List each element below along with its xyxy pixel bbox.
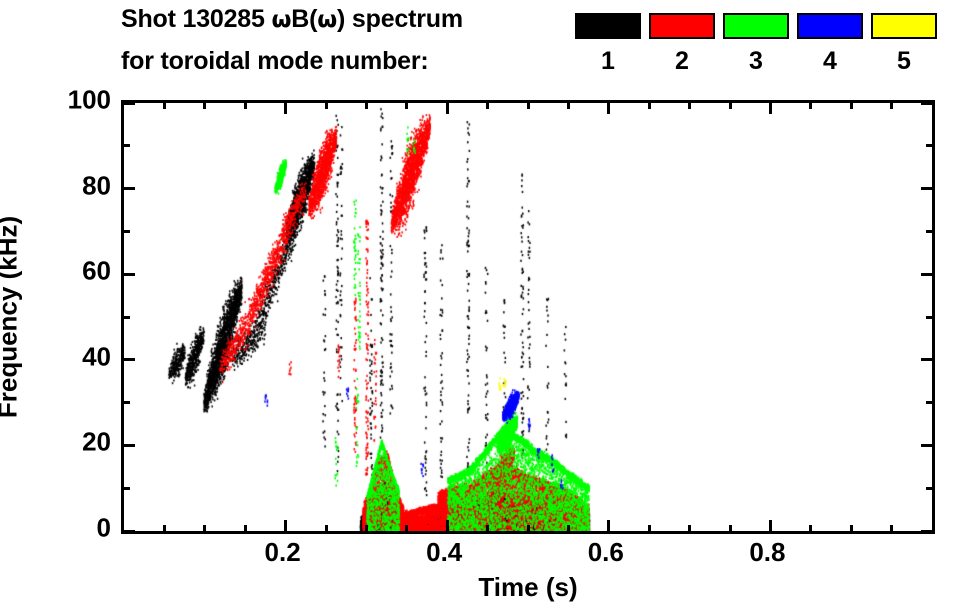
x-axis-title: Time (s) xyxy=(478,572,577,603)
x-tick-label: 0.6 xyxy=(588,537,624,568)
legend-label-mode-3: 3 xyxy=(723,48,789,74)
legend: 12345 xyxy=(575,0,963,96)
x-tick-minor xyxy=(809,525,812,534)
x-tick-minor-top xyxy=(365,100,368,109)
x-tick-minor-top xyxy=(203,100,206,109)
y-tick-major xyxy=(121,102,135,105)
x-tick-major xyxy=(769,520,772,534)
x-tick-minor-top xyxy=(244,100,247,109)
x-tick-minor xyxy=(648,525,651,534)
y-tick-minor-right xyxy=(926,487,935,490)
x-tick-minor xyxy=(850,525,853,534)
x-tick-minor xyxy=(405,525,408,534)
title-mid: B( xyxy=(291,5,317,33)
legend-label-mode-1: 1 xyxy=(575,48,641,74)
x-tick-minor-top xyxy=(729,100,732,109)
x-tick-major-top xyxy=(607,100,610,114)
y-tick-label: 80 xyxy=(82,170,111,201)
x-tick-minor xyxy=(486,525,489,534)
x-tick-minor-top xyxy=(567,100,570,109)
x-tick-minor-top xyxy=(850,100,853,109)
y-tick-label: 100 xyxy=(68,85,111,116)
y-tick-minor-right xyxy=(926,230,935,233)
x-tick-minor xyxy=(527,525,530,534)
y-tick-major-right xyxy=(921,444,935,447)
legend-swatch-mode-4 xyxy=(797,13,863,39)
legend-item-mode-5: 5 xyxy=(871,0,937,74)
legend-label-mode-4: 4 xyxy=(797,48,863,74)
y-tick-major-right xyxy=(921,530,935,533)
title-suffix: ) spectrum xyxy=(337,5,463,33)
y-tick-major xyxy=(121,358,135,361)
x-tick-major-top xyxy=(769,100,772,114)
y-tick-major-right xyxy=(921,273,935,276)
x-tick-minor-top xyxy=(527,100,530,109)
omega-symbol-2: ω xyxy=(317,7,337,33)
x-tick-minor xyxy=(325,525,328,534)
x-tick-minor xyxy=(365,525,368,534)
y-tick-minor xyxy=(121,230,130,233)
x-tick-minor xyxy=(163,525,166,534)
y-tick-major-right xyxy=(921,102,935,105)
y-tick-minor xyxy=(121,144,130,147)
y-tick-label: 20 xyxy=(82,427,111,458)
x-tick-minor-top xyxy=(688,100,691,109)
y-tick-minor-right xyxy=(926,401,935,404)
legend-item-mode-4: 4 xyxy=(797,0,863,74)
figure-title-line-1: Shot 130285 ωB(ω) spectrum xyxy=(121,5,463,34)
x-tick-minor xyxy=(890,525,893,534)
figure-header: Shot 130285 ωB(ω) spectrum for toroidal … xyxy=(0,0,963,96)
y-tick-major xyxy=(121,530,135,533)
x-tick-minor xyxy=(688,525,691,534)
legend-swatch-mode-1 xyxy=(575,13,641,39)
legend-item-mode-3: 3 xyxy=(723,0,789,74)
y-tick-major xyxy=(121,187,135,190)
x-tick-minor xyxy=(203,525,206,534)
legend-swatch-mode-5 xyxy=(871,13,937,39)
y-tick-label: 0 xyxy=(97,513,111,544)
spectrogram-data-layer xyxy=(124,103,932,531)
x-tick-minor-top xyxy=(809,100,812,109)
y-tick-minor-right xyxy=(926,316,935,319)
x-tick-major-top xyxy=(446,100,449,114)
omega-symbol-1: ω xyxy=(271,7,291,33)
x-tick-minor-top xyxy=(648,100,651,109)
x-tick-minor xyxy=(567,525,570,534)
figure-root: Shot 130285 ωB(ω) spectrum for toroidal … xyxy=(0,0,963,615)
legend-item-mode-1: 1 xyxy=(575,0,641,74)
y-tick-major xyxy=(121,273,135,276)
x-tick-minor-top xyxy=(163,100,166,109)
y-tick-label: 40 xyxy=(82,341,111,372)
x-tick-minor-top xyxy=(890,100,893,109)
y-tick-minor xyxy=(121,401,130,404)
y-tick-label: 60 xyxy=(82,256,111,287)
x-tick-label: 0.4 xyxy=(426,537,462,568)
x-tick-major xyxy=(284,520,287,534)
x-tick-minor-top xyxy=(486,100,489,109)
y-tick-major-right xyxy=(921,187,935,190)
y-tick-minor-right xyxy=(926,144,935,147)
legend-label-mode-5: 5 xyxy=(871,48,937,74)
figure-title-line-2: for toroidal mode number: xyxy=(121,47,429,76)
y-tick-major-right xyxy=(921,358,935,361)
y-tick-minor xyxy=(121,316,130,319)
x-tick-minor xyxy=(244,525,247,534)
legend-item-mode-2: 2 xyxy=(649,0,715,74)
x-tick-minor-top xyxy=(325,100,328,109)
x-tick-major-top xyxy=(284,100,287,114)
legend-label-mode-2: 2 xyxy=(649,48,715,74)
y-tick-major xyxy=(121,444,135,447)
x-tick-label: 0.2 xyxy=(265,537,301,568)
x-tick-minor-top xyxy=(405,100,408,109)
x-tick-minor xyxy=(729,525,732,534)
legend-swatch-mode-3 xyxy=(723,13,789,39)
x-tick-major xyxy=(607,520,610,534)
y-tick-minor xyxy=(121,487,130,490)
y-axis-title: Frequency (kHz) xyxy=(0,216,24,418)
x-tick-label: 0.8 xyxy=(749,537,785,568)
x-tick-major xyxy=(446,520,449,534)
legend-swatch-mode-2 xyxy=(649,13,715,39)
plot-area xyxy=(121,100,935,534)
title-prefix: Shot 130285 xyxy=(121,5,271,33)
